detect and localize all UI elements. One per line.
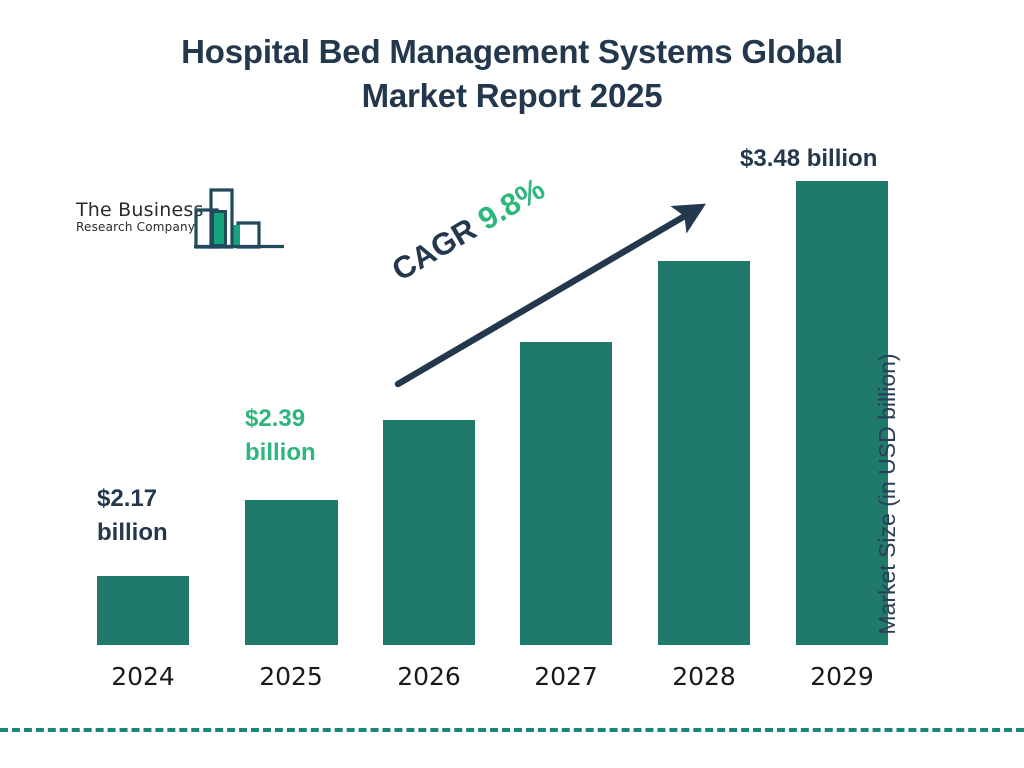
bar-value-label-2024-line-1: $2.17	[97, 482, 168, 516]
bar-2026	[383, 420, 475, 645]
brand-logo-line-1: The Business	[76, 200, 208, 220]
growth-arrow-icon	[380, 185, 720, 400]
x-tick-label-2024: 2024	[97, 662, 189, 691]
x-tick-label-2028: 2028	[658, 662, 750, 691]
bar-value-label-2024-line-2: billion	[97, 516, 168, 550]
bar-2024	[97, 576, 189, 645]
x-tick-label-2027: 2027	[520, 662, 612, 691]
bar-value-label-2029: $3.48 billion	[740, 142, 877, 176]
x-tick-label-2025: 2025	[245, 662, 337, 691]
page-title: Hospital Bed Management Systems Global M…	[60, 30, 964, 118]
x-tick-label-2029: 2029	[796, 662, 888, 691]
brand-logo-text: The Business Research Company	[76, 200, 208, 235]
bar-value-label-2025-line-2: billion	[245, 436, 316, 470]
chart-canvas: Hospital Bed Management Systems Global M…	[0, 0, 1024, 768]
bar-2025	[245, 500, 338, 645]
bar-chart-logo-icon	[192, 186, 286, 252]
bar-value-label-2025: $2.39 billion	[245, 402, 316, 470]
brand-logo: The Business Research Company	[76, 186, 286, 252]
page-title-line-2: Market Report 2025	[60, 74, 964, 118]
page-title-line-1: Hospital Bed Management Systems Global	[60, 30, 964, 74]
y-axis-title: Market Size (in USD billion)	[874, 324, 901, 664]
x-tick-label-2026: 2026	[383, 662, 475, 691]
bar-value-label-2029-line-1: $3.48 billion	[740, 142, 877, 176]
bar-value-label-2025-line-1: $2.39	[245, 402, 316, 436]
footer-divider	[0, 728, 1024, 732]
bar-value-label-2024: $2.17 billion	[97, 482, 168, 550]
brand-logo-line-2: Research Company	[76, 220, 208, 235]
